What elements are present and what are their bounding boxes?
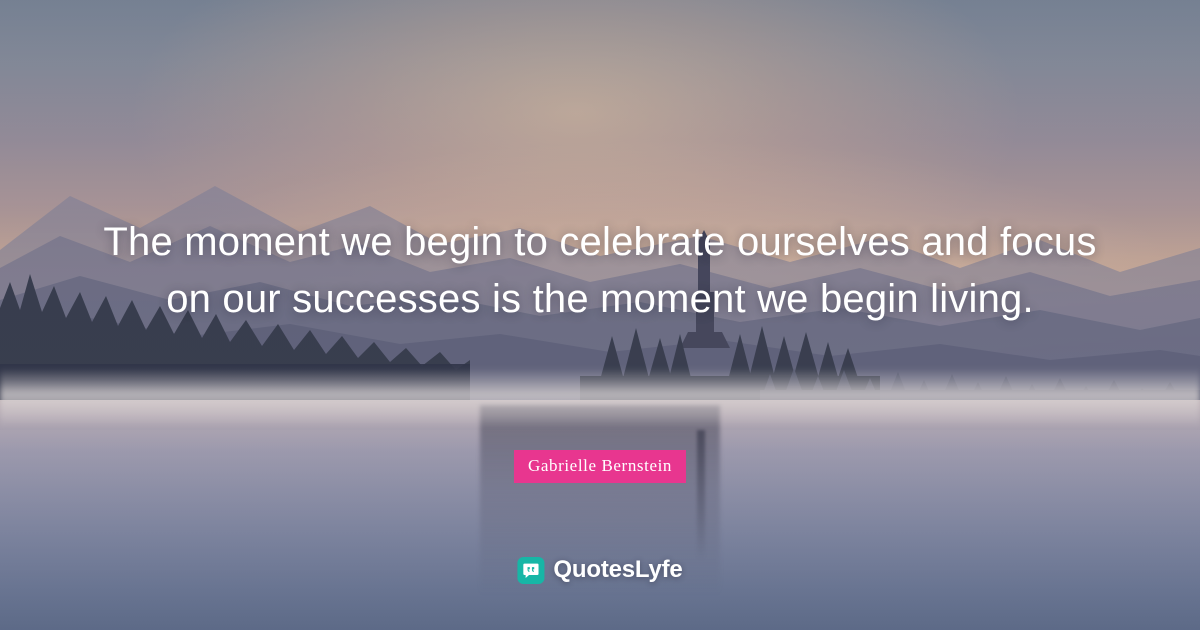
brand-name: QuotesLyfe xyxy=(553,556,682,584)
author-badge: Gabrielle Bernstein xyxy=(514,450,686,483)
quote-card: The moment we begin to celebrate ourselv… xyxy=(0,0,1200,630)
spire-reflection xyxy=(697,430,705,560)
quote-text: The moment we begin to celebrate ourselv… xyxy=(100,214,1100,328)
quote-bubble-icon xyxy=(517,557,544,584)
quote-block: The moment we begin to celebrate ourselv… xyxy=(100,214,1100,328)
brand-logo: QuotesLyfe xyxy=(517,556,682,584)
author-name: Gabrielle Bernstein xyxy=(514,450,686,483)
